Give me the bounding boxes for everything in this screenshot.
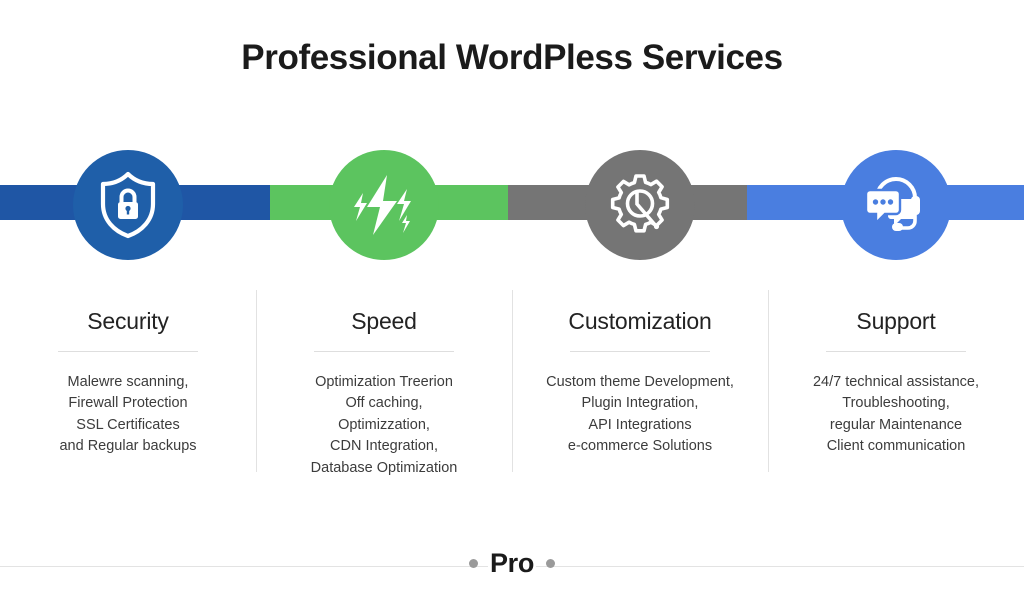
description-line: Client communication [789, 436, 1004, 457]
heading-rule-support [826, 351, 966, 352]
infographic-poster: Professional WordPless Services [0, 0, 1024, 615]
description-line: Optimizzation, [277, 415, 492, 436]
feature-heading-security: Security [87, 308, 168, 335]
icon-circle-support[interactable] [841, 150, 951, 260]
description-line: e-commerce Solutions [533, 436, 748, 457]
description-line: SSL Certificates [21, 415, 236, 436]
feature-description-support: 24/7 technical assistance, Troubleshooti… [789, 372, 1004, 458]
lightning-bolt-icon [349, 171, 419, 239]
page-title: Professional WordPless Services [0, 38, 1024, 78]
gear-wrench-icon [606, 171, 674, 239]
description-line: 24/7 technical assistance, [789, 372, 1004, 393]
feature-heading-customization: Customization [568, 308, 711, 335]
shield-lock-icon [96, 170, 160, 240]
description-line: Troubleshooting, [789, 393, 1004, 414]
feature-heading-support: Support [856, 308, 935, 335]
heading-rule-security [58, 351, 198, 352]
description-line: and Regular backups [21, 436, 236, 457]
description-line: Malewre scanning, [21, 372, 236, 393]
description-line: API Integrations [533, 415, 748, 436]
feature-description-speed: Optimization Treerion Off caching, Optim… [277, 372, 492, 479]
feature-description-customization: Custom theme Development, Plugin Integra… [533, 372, 748, 458]
feature-heading-speed: Speed [351, 308, 417, 335]
footer-label: Pro [488, 548, 536, 579]
description-line: Custom theme Development, [533, 372, 748, 393]
feature-column-customization[interactable]: Customization Custom theme Development, … [512, 140, 768, 490]
feature-description-security: Malewre scanning, Firewall Protection SS… [21, 372, 236, 458]
icon-circle-customization[interactable] [585, 150, 695, 260]
description-line: Plugin Integration, [533, 393, 748, 414]
feature-columns: Security Malewre scanning, Firewall Prot… [0, 140, 1024, 490]
headset-chat-icon [861, 172, 931, 238]
icon-circle-security[interactable] [73, 150, 183, 260]
bullet-dot-right-icon [546, 559, 555, 568]
description-line: regular Maintenance [789, 415, 1004, 436]
description-line: Off caching, [277, 393, 492, 414]
heading-rule-customization [570, 351, 710, 352]
feature-column-security[interactable]: Security Malewre scanning, Firewall Prot… [0, 140, 256, 490]
description-line: Optimization Treerion [277, 372, 492, 393]
description-line: Database Optimization [277, 458, 492, 479]
feature-column-support[interactable]: Support 24/7 technical assistance, Troub… [768, 140, 1024, 490]
feature-column-speed[interactable]: Speed Optimization Treerion Off caching,… [256, 140, 512, 490]
description-line: CDN Integration, [277, 436, 492, 457]
icon-circle-speed[interactable] [329, 150, 439, 260]
bullet-dot-left-icon [469, 559, 478, 568]
heading-rule-speed [314, 351, 454, 352]
description-line: Firewall Protection [21, 393, 236, 414]
footer: Pro [0, 548, 1024, 579]
